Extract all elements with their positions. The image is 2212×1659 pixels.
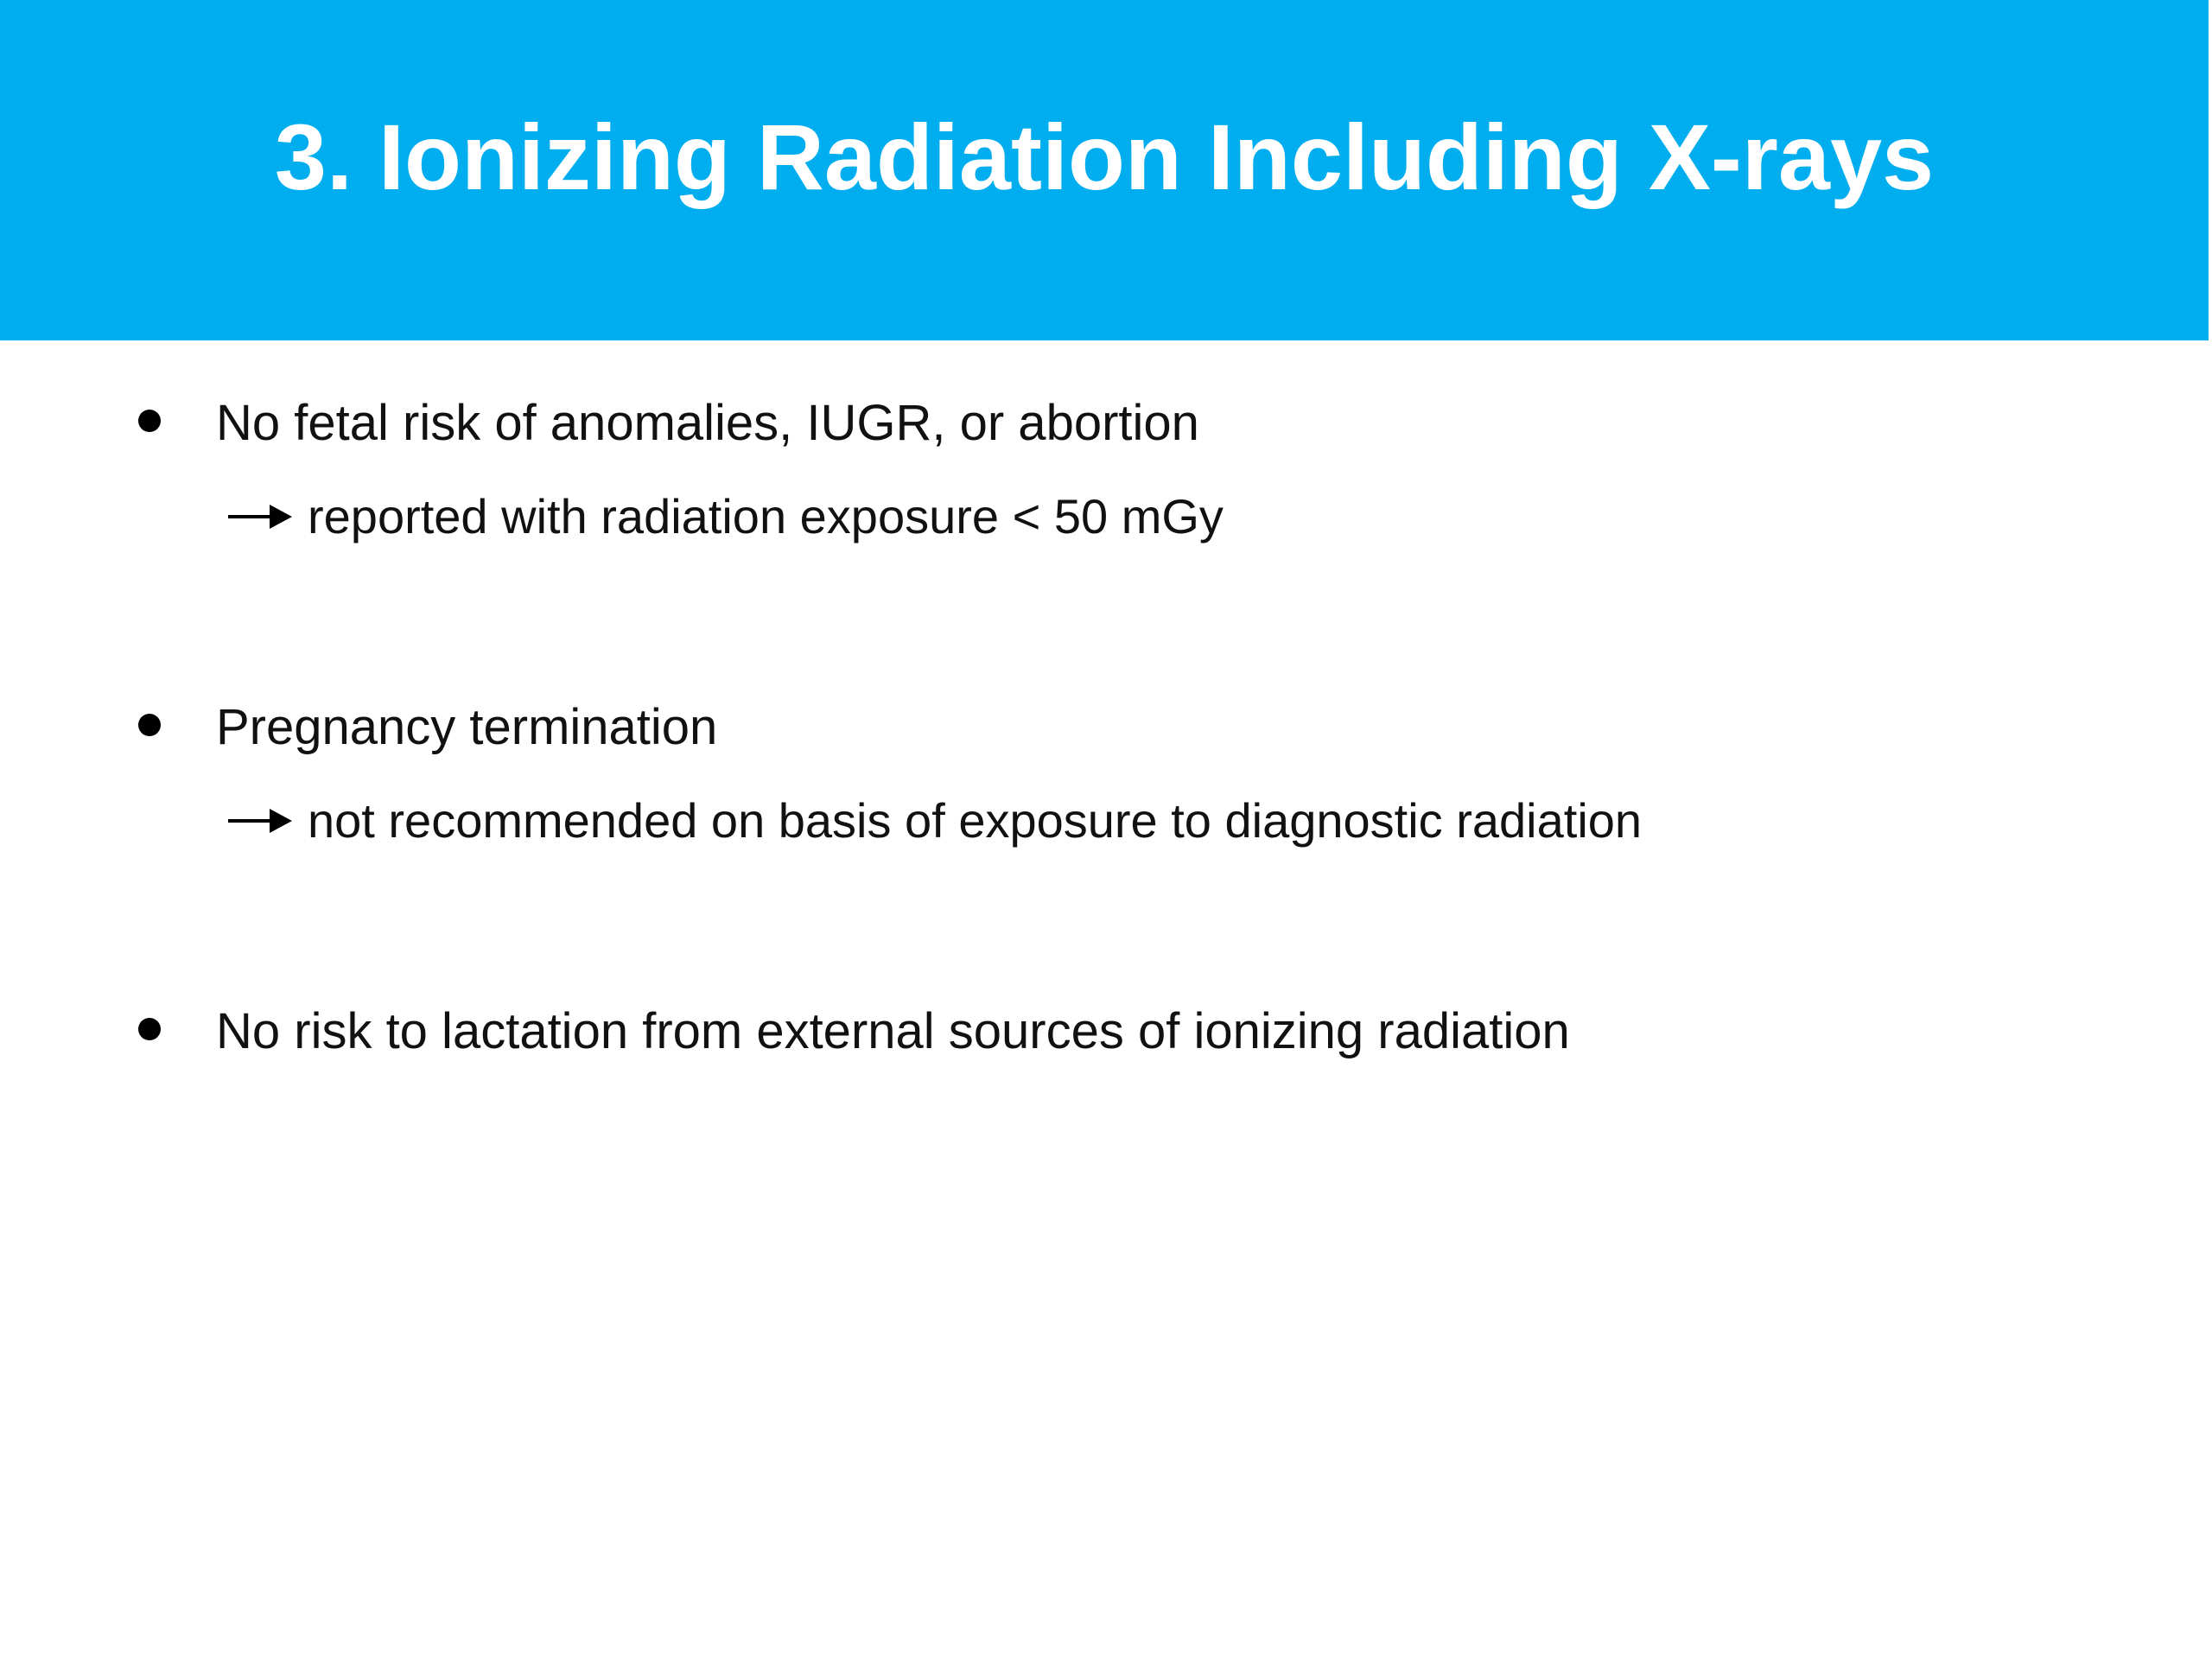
slide-title: 3. Ionizing Radiation Including X-rays (0, 0, 2209, 204)
bullet-group-3: No risk to lactation from external sourc… (0, 990, 2212, 1073)
bullet-item: No risk to lactation from external sourc… (0, 990, 2212, 1073)
right-arrow-icon (226, 785, 294, 857)
sub-text: reported with radiation exposure < 50 mG… (308, 475, 1224, 558)
sub-text: not recommended on basis of exposure to … (308, 779, 1642, 862)
bullet-item: Pregnancy termination (0, 686, 2212, 769)
slide-body: No fetal risk of anomalies, IUGR, or abo… (0, 340, 2212, 1659)
bullet-text: No risk to lactation from external sourc… (216, 990, 1570, 1073)
bullet-group-1: No fetal risk of anomalies, IUGR, or abo… (0, 382, 2212, 558)
right-arrow-icon (226, 480, 294, 553)
bullet-group-2: Pregnancy termination not recommended on… (0, 686, 2212, 862)
bullet-text: Pregnancy termination (216, 686, 717, 769)
presentation-slide: 3. Ionizing Radiation Including X-rays N… (0, 0, 2212, 1659)
sub-item: not recommended on basis of exposure to … (0, 779, 2212, 862)
bullet-dot-icon (138, 714, 161, 736)
bullet-dot-icon (138, 410, 161, 432)
slide-header-band: 3. Ionizing Radiation Including X-rays (0, 0, 2209, 340)
bullet-item: No fetal risk of anomalies, IUGR, or abo… (0, 382, 2212, 465)
bullet-dot-icon (138, 1018, 161, 1040)
sub-item: reported with radiation exposure < 50 mG… (0, 475, 2212, 558)
bullet-text: No fetal risk of anomalies, IUGR, or abo… (216, 382, 1199, 465)
